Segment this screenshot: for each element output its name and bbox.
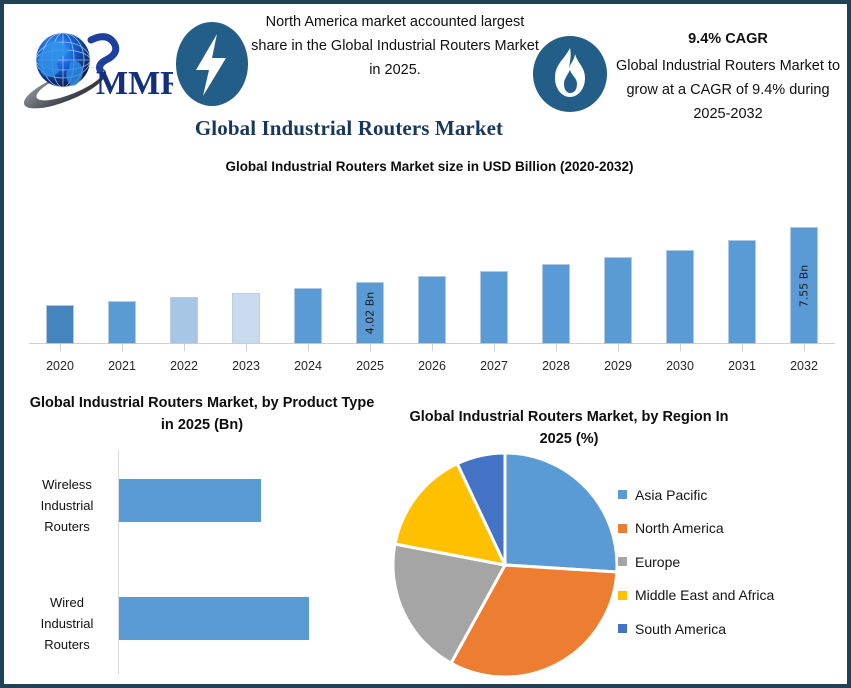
axis-label-2029: 2029 xyxy=(587,359,649,373)
legend-swatch-icon xyxy=(618,524,627,533)
legend-swatch-icon xyxy=(618,557,627,566)
bar-column xyxy=(587,257,649,344)
bar-2030 xyxy=(666,250,694,344)
axis-label-2026: 2026 xyxy=(401,359,463,373)
product-type-row: Wireless Industrial Routers xyxy=(22,474,382,534)
axis-tick xyxy=(494,344,495,351)
axis-tick xyxy=(122,344,123,351)
pie-slice-asia-pacific xyxy=(505,453,617,572)
product-type-label: Wired Industrial Routers xyxy=(22,592,112,655)
axis-tick xyxy=(184,344,185,351)
product-type-chart-title: Global Industrial Routers Market, by Pro… xyxy=(22,392,382,436)
bar-column xyxy=(153,297,215,344)
axis-label-2023: 2023 xyxy=(215,359,277,373)
bar-column xyxy=(463,271,525,344)
mmr-logo-svg: MMR xyxy=(18,18,173,110)
bar-column xyxy=(29,305,91,344)
region-pie-svg xyxy=(390,450,620,680)
flame-icon xyxy=(531,34,609,114)
legend-swatch-icon xyxy=(618,591,627,600)
header-note: North America market accounted largest s… xyxy=(250,10,540,82)
bar-chart-title: Global Industrial Routers Market size in… xyxy=(4,159,851,174)
cagr-headline: 9.4% CAGR xyxy=(606,28,850,50)
axis-label-2022: 2022 xyxy=(153,359,215,373)
legend-item: Asia Pacific xyxy=(618,478,848,512)
cagr-block: 9.4% CAGR Global Industrial Routers Mark… xyxy=(606,28,850,126)
legend-item: North America xyxy=(618,512,848,546)
bar-2027 xyxy=(480,271,508,344)
product-type-bar xyxy=(119,479,261,522)
bar-column xyxy=(215,293,277,344)
bar-2022 xyxy=(170,297,198,344)
legend-label: South America xyxy=(635,621,726,637)
bar-2032: 7.55 Bn xyxy=(790,227,818,344)
bar-column xyxy=(401,276,463,344)
mmr-logo: MMR xyxy=(18,18,173,110)
bar-column xyxy=(711,240,773,344)
page-title: Global Industrial Routers Market xyxy=(4,116,694,141)
legend-label: Middle East and Africa xyxy=(635,587,774,603)
axis-label-2030: 2030 xyxy=(649,359,711,373)
axis-label-2024: 2024 xyxy=(277,359,339,373)
bar-2021 xyxy=(108,301,136,344)
bar-column: 7.55 Bn xyxy=(773,227,835,344)
legend-label: Europe xyxy=(635,554,680,570)
bar-2026 xyxy=(418,276,446,344)
axis-tick xyxy=(370,344,371,351)
mmr-logo-text: MMR xyxy=(96,65,173,102)
axis-label-2031: 2031 xyxy=(711,359,773,373)
legend-swatch-icon xyxy=(618,624,627,633)
axis-label-2027: 2027 xyxy=(463,359,525,373)
bar-2029 xyxy=(604,257,632,344)
axis-tick xyxy=(308,344,309,351)
legend-swatch-icon xyxy=(618,490,627,499)
region-pie-chart xyxy=(390,450,620,680)
bar-2025: 4.02 Bn xyxy=(356,282,384,344)
axis-label-2020: 2020 xyxy=(29,359,91,373)
legend-label: North America xyxy=(635,520,724,536)
legend-item: South America xyxy=(618,612,848,646)
axis-tick xyxy=(60,344,61,351)
infographic-frame: MMR North America market accounted large… xyxy=(0,0,851,688)
axis-tick xyxy=(246,344,247,351)
bar-2028 xyxy=(542,264,570,344)
bar-2031 xyxy=(728,240,756,344)
product-type-label: Wireless Industrial Routers xyxy=(22,474,112,537)
bar-2023 xyxy=(232,293,260,344)
axis-label-2025: 2025 xyxy=(339,359,401,373)
product-type-row: Wired Industrial Routers xyxy=(22,592,382,652)
axis-label-2032: 2032 xyxy=(773,359,835,373)
market-size-bar-chart: 202020212022202320244.02 Bn2025202620272… xyxy=(29,176,835,381)
axis-tick xyxy=(804,344,805,351)
axis-label-2021: 2021 xyxy=(91,359,153,373)
region-chart-title: Global Industrial Routers Market, by Reg… xyxy=(404,406,734,450)
axis-tick xyxy=(742,344,743,351)
bar-column xyxy=(649,250,711,344)
region-legend: Asia PacificNorth AmericaEuropeMiddle Ea… xyxy=(618,478,848,646)
bar-2020 xyxy=(46,305,74,344)
axis-tick xyxy=(680,344,681,351)
legend-label: Asia Pacific xyxy=(635,487,707,503)
axis-tick xyxy=(618,344,619,351)
product-type-bar-chart: Wireless Industrial RoutersWired Industr… xyxy=(22,444,382,682)
bar-value-label: 7.55 Bn xyxy=(798,264,811,307)
bar-2024 xyxy=(294,288,322,344)
axis-tick xyxy=(556,344,557,351)
bar-value-label: 4.02 Bn xyxy=(364,292,377,335)
bar-column xyxy=(277,288,339,344)
legend-item: Europe xyxy=(618,545,848,579)
lightning-bolt-icon xyxy=(172,18,252,110)
axis-tick xyxy=(432,344,433,351)
product-type-bar xyxy=(119,597,309,640)
bar-column xyxy=(91,301,153,344)
legend-item: Middle East and Africa xyxy=(618,579,848,613)
bar-column: 4.02 Bn xyxy=(339,282,401,344)
bar-column xyxy=(525,264,587,344)
axis-label-2028: 2028 xyxy=(525,359,587,373)
